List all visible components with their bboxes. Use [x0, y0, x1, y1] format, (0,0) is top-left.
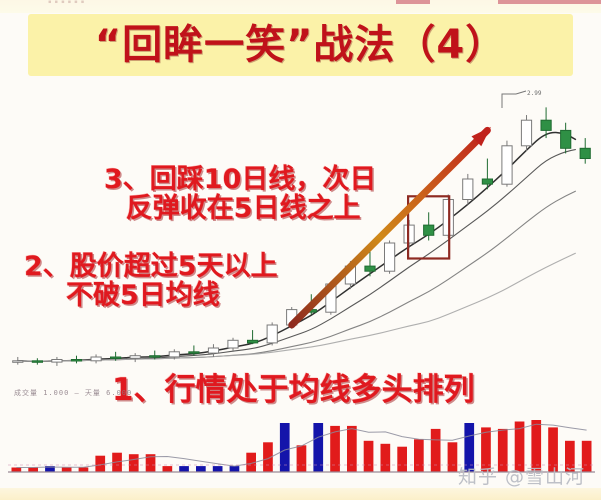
top-cutoff-strip: ▪▪▪▪▪▪	[0, 0, 601, 13]
annotation-rule-2-line2: 不破5日均线	[66, 281, 278, 310]
bottom-cutoff-strip	[0, 488, 601, 500]
top-ghost-bar-right	[498, 0, 601, 4]
price-tag-label: 2.99	[500, 88, 552, 112]
screenshot-root: ▪▪▪▪▪▪ “回眸一笑”战法（4） 2.99 3、回踩10日线，次日 反弹收在…	[0, 0, 601, 500]
top-ghost-text: ▪▪▪▪▪▪	[48, 0, 87, 8]
annotation-rule-2-line1: 2、股价超过5天以上	[24, 251, 278, 282]
top-ghost-bar-left	[396, 0, 430, 4]
candlestick-chart	[0, 80, 601, 410]
annotation-rule-1-line1: 1、行情处于均线多头排列	[112, 372, 475, 408]
title-banner: “回眸一笑”战法（4）	[28, 14, 573, 76]
price-canvas	[0, 80, 601, 410]
annotation-rule-2: 2、股价超过5天以上 不破5日均线	[24, 252, 278, 310]
volume-legend-text: 成交量 1.000 — 天量 6.000	[14, 388, 132, 398]
page-title: “回眸一笑”战法（4）	[95, 25, 506, 65]
annotation-rule-3-line1: 3、回踩10日线，次日	[104, 164, 376, 195]
annotation-rule-1: 1、行情处于均线多头排列	[112, 374, 475, 407]
price-tag-value: 2.99	[527, 90, 541, 97]
watermark: 知乎 @雪山河	[458, 462, 585, 489]
annotation-rule-3-line2: 反弹收在5日线之上	[110, 194, 376, 223]
price-tag-icon	[500, 88, 552, 110]
annotation-rule-3: 3、回踩10日线，次日 反弹收在5日线之上	[104, 165, 376, 223]
